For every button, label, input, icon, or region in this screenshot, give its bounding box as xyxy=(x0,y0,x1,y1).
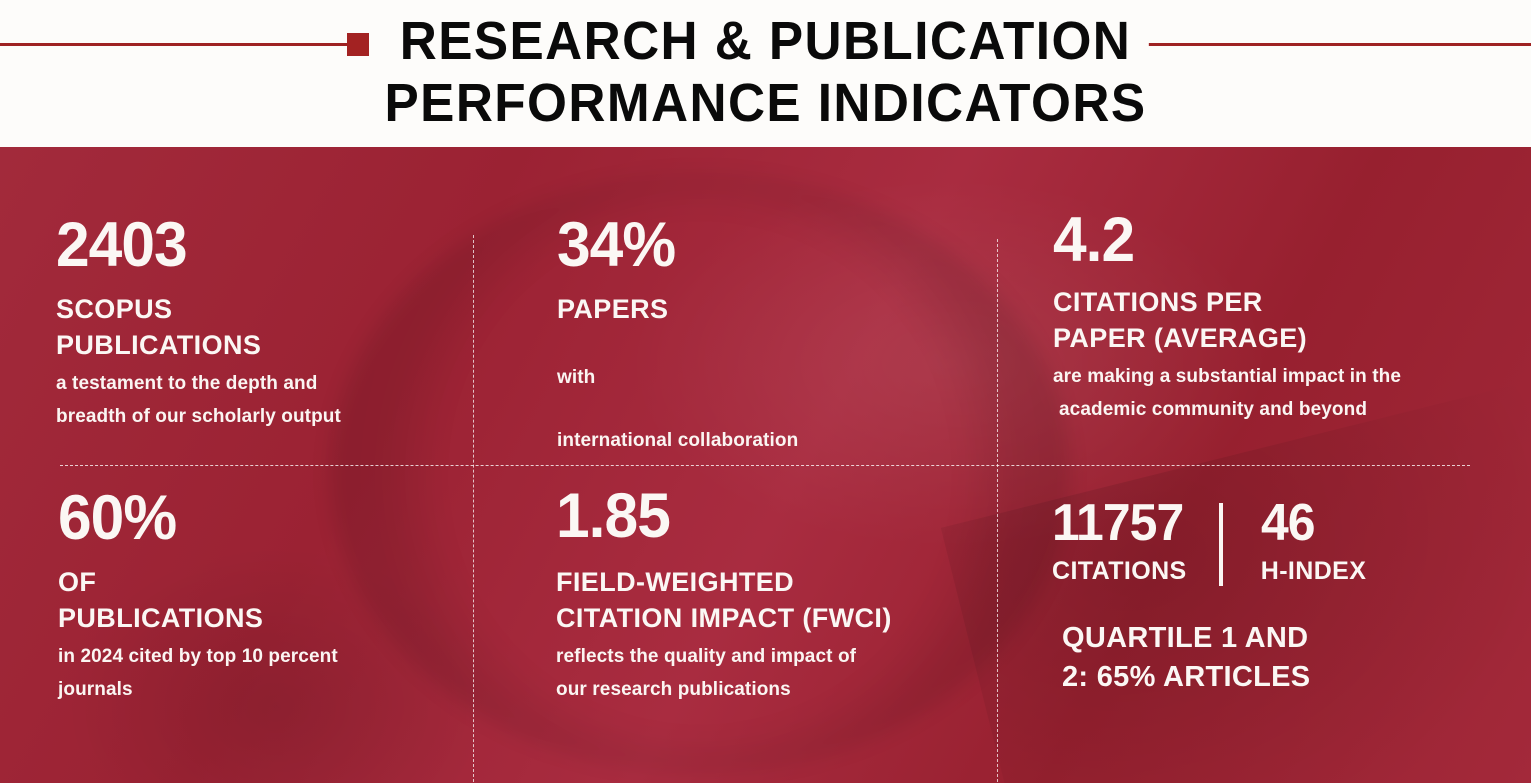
stat-label-line-2: PUBLICATIONS xyxy=(56,327,341,363)
header-band: RESEARCH & PUBLICATION PERFORMANCE INDIC… xyxy=(0,0,1531,147)
stat-description-line-1: reflects the quality and impact of xyxy=(556,644,892,669)
stat-label-line-2: PUBLICATIONS xyxy=(58,600,338,636)
stat-description-line-2: journals xyxy=(58,677,338,702)
page-title-line-1: RESEARCH & PUBLICATION xyxy=(38,10,1492,72)
stat-value: 2403 xyxy=(56,214,330,277)
stat-card-international-collaboration: 34% PAPERS with international collaborat… xyxy=(557,214,798,453)
stat-label-line-2: CITATION IMPACT (FWCI) xyxy=(556,600,892,636)
column-divider-2 xyxy=(997,239,998,783)
stat-label-line-2: PAPER (AVERAGE) xyxy=(1053,320,1401,356)
stat-card-field-weighted-citation-impact: 1.85 FIELD-WEIGHTED CITATION IMPACT (FWC… xyxy=(556,485,892,702)
stat-value: 34% xyxy=(557,214,789,277)
citations-value: 11757 xyxy=(1052,497,1183,549)
page-title: RESEARCH & PUBLICATION PERFORMANCE INDIC… xyxy=(0,10,1531,134)
stat-value: 4.2 xyxy=(1053,209,1387,272)
stat-label-line-1: FIELD-WEIGHTED xyxy=(556,564,892,600)
stat-card-citations-per-paper: 4.2 CITATIONS PER PAPER (AVERAGE) are ma… xyxy=(1053,209,1401,422)
stat-description-line-2: academic community and beyond xyxy=(1053,397,1401,422)
stat-label-line-1: SCOPUS xyxy=(56,291,341,327)
stat-description-line-1: in 2024 cited by top 10 percent xyxy=(58,644,338,669)
stat-description-line-1: with xyxy=(557,365,798,390)
stat-description-line-1: a testament to the depth and xyxy=(56,371,341,396)
stat-card-scopus-publications: 2403 SCOPUS PUBLICATIONS a testament to … xyxy=(56,214,341,429)
stat-description-line-2: international collaboration xyxy=(557,428,798,453)
page-title-line-2: PERFORMANCE INDICATORS xyxy=(38,72,1492,134)
column-divider-1 xyxy=(473,235,474,783)
quartile-line-2: 2: 65% ARTICLES xyxy=(1062,658,1366,697)
stat-label-line-1: OF xyxy=(58,564,338,600)
stat-description-line-2: our research publications xyxy=(556,677,892,702)
citations-group: 11757 CITATIONS xyxy=(1052,497,1189,587)
stat-description-line-1: are making a substantial impact in the xyxy=(1053,364,1401,389)
citations-hindex-divider xyxy=(1219,503,1223,586)
infographic-poster: RESEARCH & PUBLICATION PERFORMANCE INDIC… xyxy=(0,0,1531,783)
stat-card-citations-and-hindex: 11757 CITATIONS 46 H-INDEX QUARTILE 1 AN… xyxy=(1052,497,1366,697)
stat-description-line-2: breadth of our scholarly output xyxy=(56,404,341,429)
stat-value: 60% xyxy=(58,487,327,550)
stats-panel: 2403 SCOPUS PUBLICATIONS a testament to … xyxy=(0,147,1531,783)
hindex-value: 46 xyxy=(1261,497,1362,549)
hindex-group: 46 H-INDEX xyxy=(1253,497,1367,587)
stat-label-line-1: PAPERS xyxy=(557,291,798,327)
row-divider xyxy=(60,465,1470,466)
citations-hindex-row: 11757 CITATIONS 46 H-INDEX xyxy=(1052,497,1366,587)
citations-label: CITATIONS xyxy=(1052,555,1189,587)
quartile-line-1: QUARTILE 1 AND xyxy=(1062,619,1366,658)
hindex-label: H-INDEX xyxy=(1261,555,1367,587)
stat-card-top-ten-percent-journals: 60% OF PUBLICATIONS in 2024 cited by top… xyxy=(58,487,338,702)
stat-value: 1.85 xyxy=(556,485,878,548)
stat-label-line-1: CITATIONS PER xyxy=(1053,284,1401,320)
